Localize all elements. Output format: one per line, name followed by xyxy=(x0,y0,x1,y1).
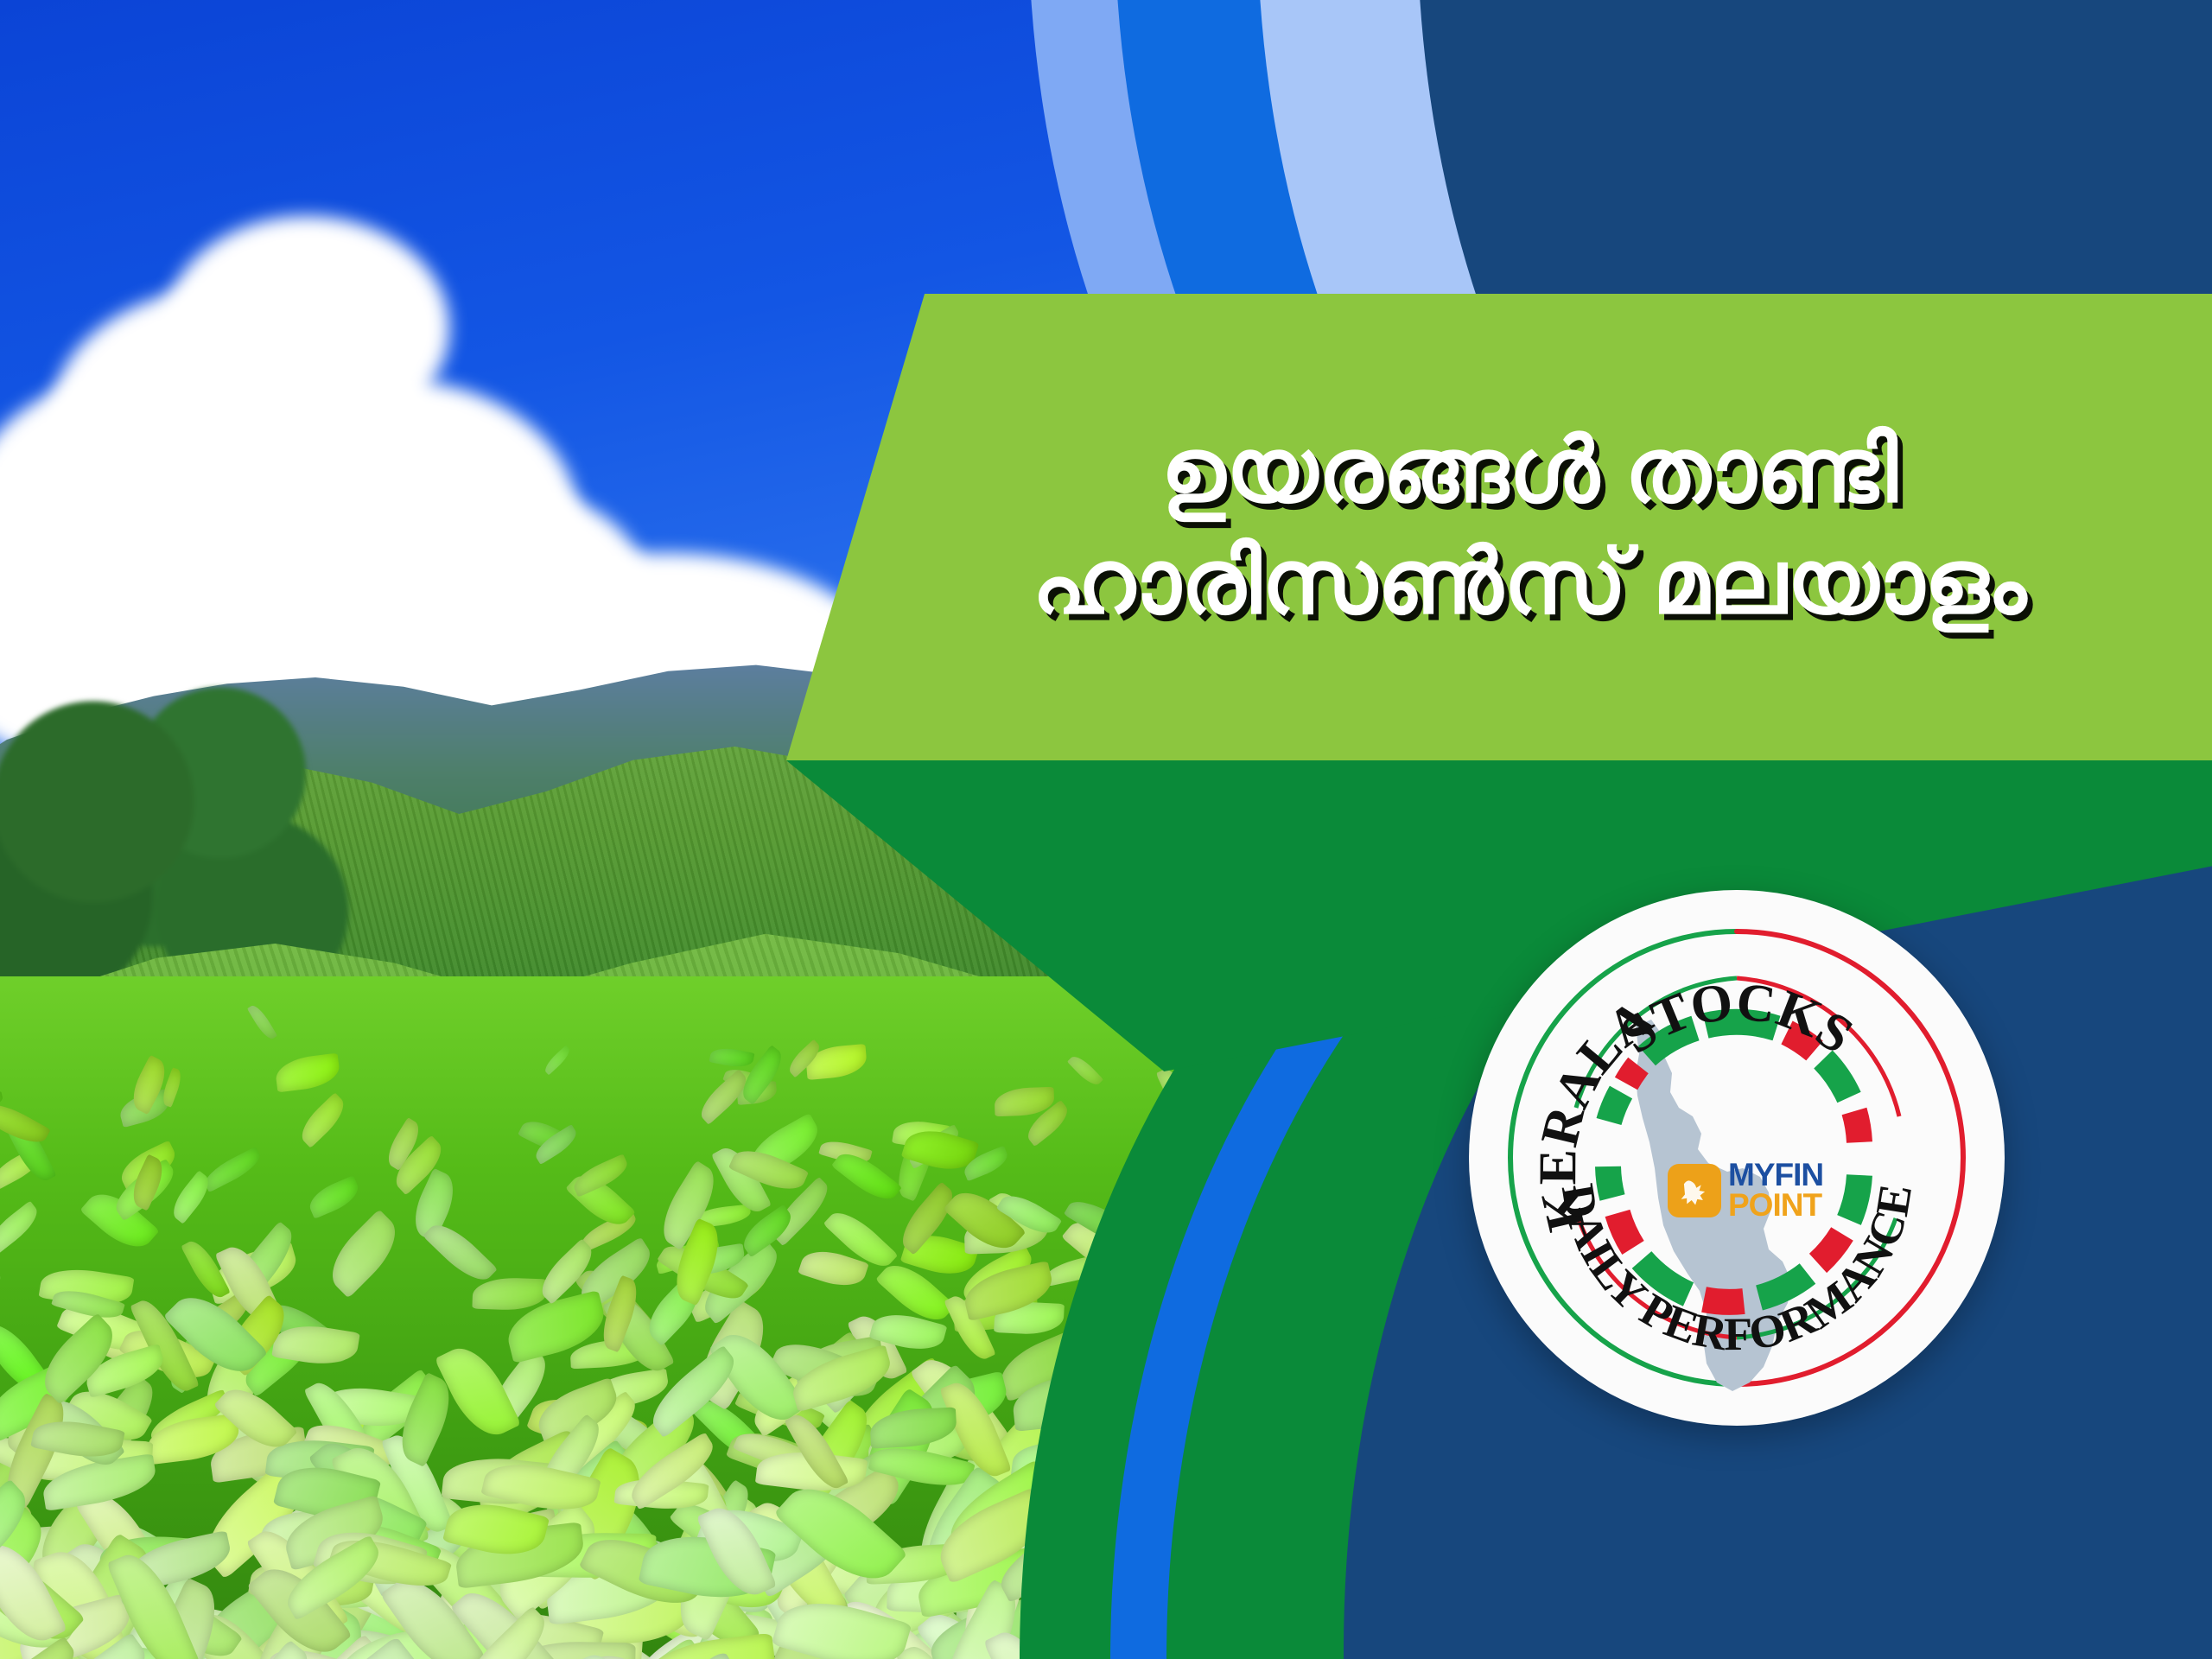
headline-line-1: ഉയരങ്ങൾ താണ്ടി xyxy=(1160,418,1897,524)
tea-leaf xyxy=(319,1209,408,1298)
headline-line-2: ഹാരിസൺസ് മലയാളം xyxy=(1032,530,2026,636)
tea-leaf xyxy=(247,1002,277,1042)
tea-leaf xyxy=(0,1267,5,1313)
tea-leaf xyxy=(423,1216,498,1290)
tea-leaf xyxy=(709,1045,755,1070)
headline-text-block: ഉയരങ്ങൾ താണ്ടി ഹാരിസൺസ് മലയാളം xyxy=(786,294,2212,760)
tea-leaf xyxy=(305,1175,363,1219)
tea-leaf xyxy=(542,1046,573,1076)
myfin-word-1: MYFIN xyxy=(1728,1160,1823,1191)
myfin-word-2: POINT xyxy=(1728,1191,1823,1221)
tea-leaf xyxy=(1067,1052,1103,1090)
myfin-point-badge[interactable]: MYFIN POINT xyxy=(1668,1139,1853,1243)
tea-leaf xyxy=(472,1277,547,1312)
myfin-bull-icon xyxy=(1668,1164,1721,1217)
poster-canvas: ഉയരങ്ങൾ താണ്ടി ഹാരിസൺസ് മലയാളം xyxy=(0,0,2212,1659)
headline-banner: ഉയരങ്ങൾ താണ്ടി ഹാരിസൺസ് മലയാളം xyxy=(786,294,2212,760)
tea-leaf xyxy=(200,1147,265,1192)
myfin-wordmark: MYFIN POINT xyxy=(1728,1160,1823,1221)
tea-leaf xyxy=(0,1201,44,1255)
tea-leaf xyxy=(295,1092,352,1148)
tea-leaf xyxy=(274,1053,341,1093)
